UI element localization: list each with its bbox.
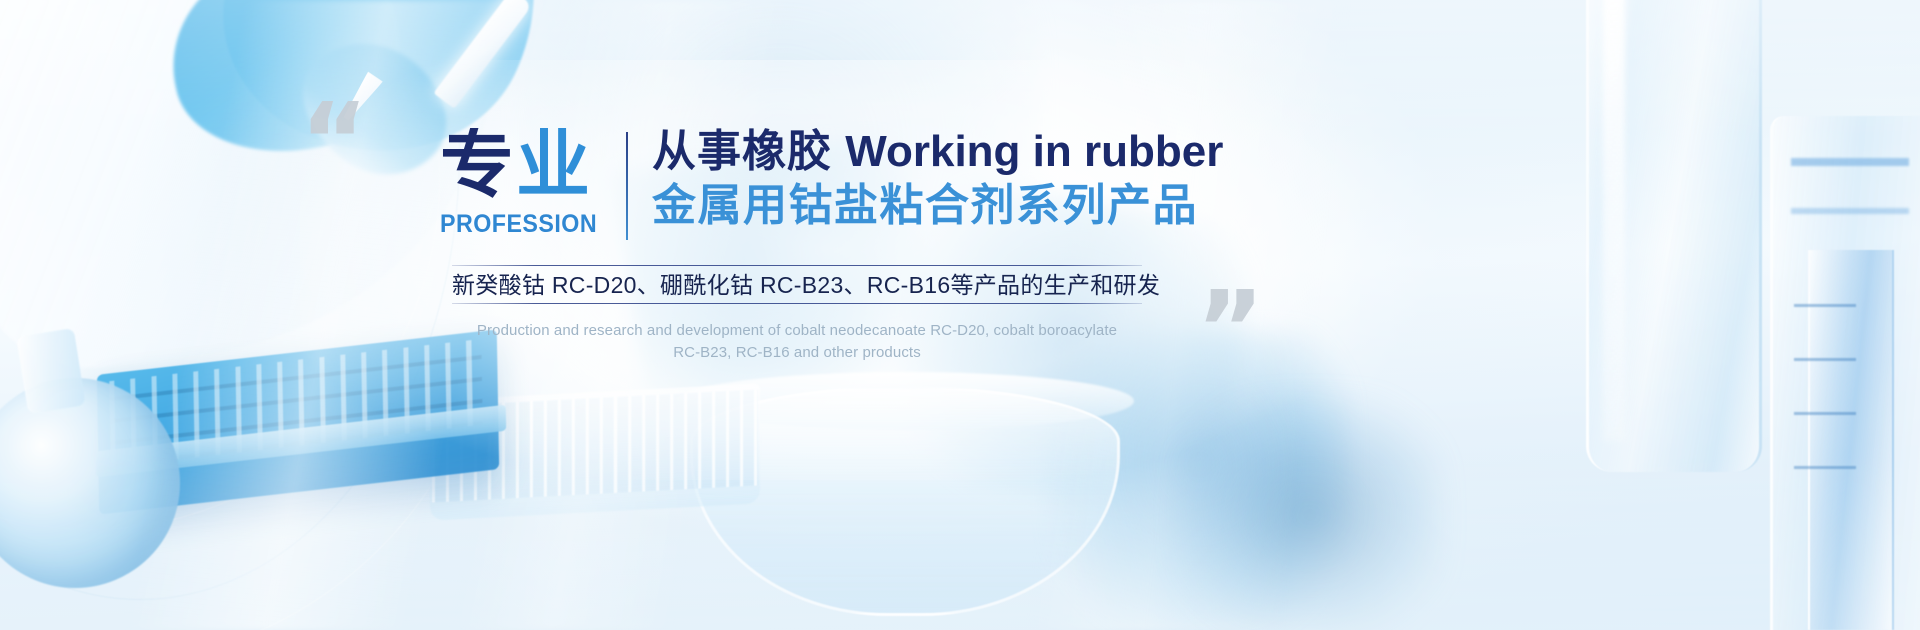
- divider-rule-top: [452, 265, 1142, 266]
- banner-content: “ ” 专业 PROFESSION 从事橡胶 Working in rubber…: [0, 0, 1920, 630]
- promo-banner: “ ” 专业 PROFESSION 从事橡胶 Working in rubber…: [0, 0, 1920, 630]
- lockup-cn-text: 专业: [440, 128, 598, 202]
- subtitle-chinese: 新癸酸钴 RC-D20、硼酰化钴 RC-B23、RC-B16等产品的生产和研发: [452, 268, 1142, 302]
- headline-line-1: 从事橡胶 Working in rubber: [652, 126, 1223, 178]
- subtitle-english-line-1: Production and research and development …: [452, 320, 1142, 342]
- headline-row: 专业 PROFESSION 从事橡胶 Working in rubber 金属用…: [440, 126, 1223, 240]
- headline-line-2: 金属用钴盐粘合剂系列产品: [652, 180, 1223, 233]
- headline-text-group: 从事橡胶 Working in rubber 金属用钴盐粘合剂系列产品: [652, 126, 1223, 233]
- subtitle-english-line-2: RC-B23, RC-B16 and other products: [452, 342, 1142, 364]
- profession-lockup: 专业 PROFESSION: [440, 126, 598, 239]
- quote-close-icon: ”: [1196, 292, 1258, 367]
- vertical-divider: [626, 132, 628, 240]
- divider-rule-bottom: [452, 303, 1142, 304]
- subtitle-english: Production and research and development …: [452, 320, 1142, 364]
- quote-open-icon: “: [300, 104, 362, 179]
- lockup-en-text: PROFESSION: [440, 210, 587, 239]
- headline-line-1-cn: 从事橡胶: [652, 127, 832, 176]
- headline-line-1-en: Working in rubber: [845, 127, 1223, 176]
